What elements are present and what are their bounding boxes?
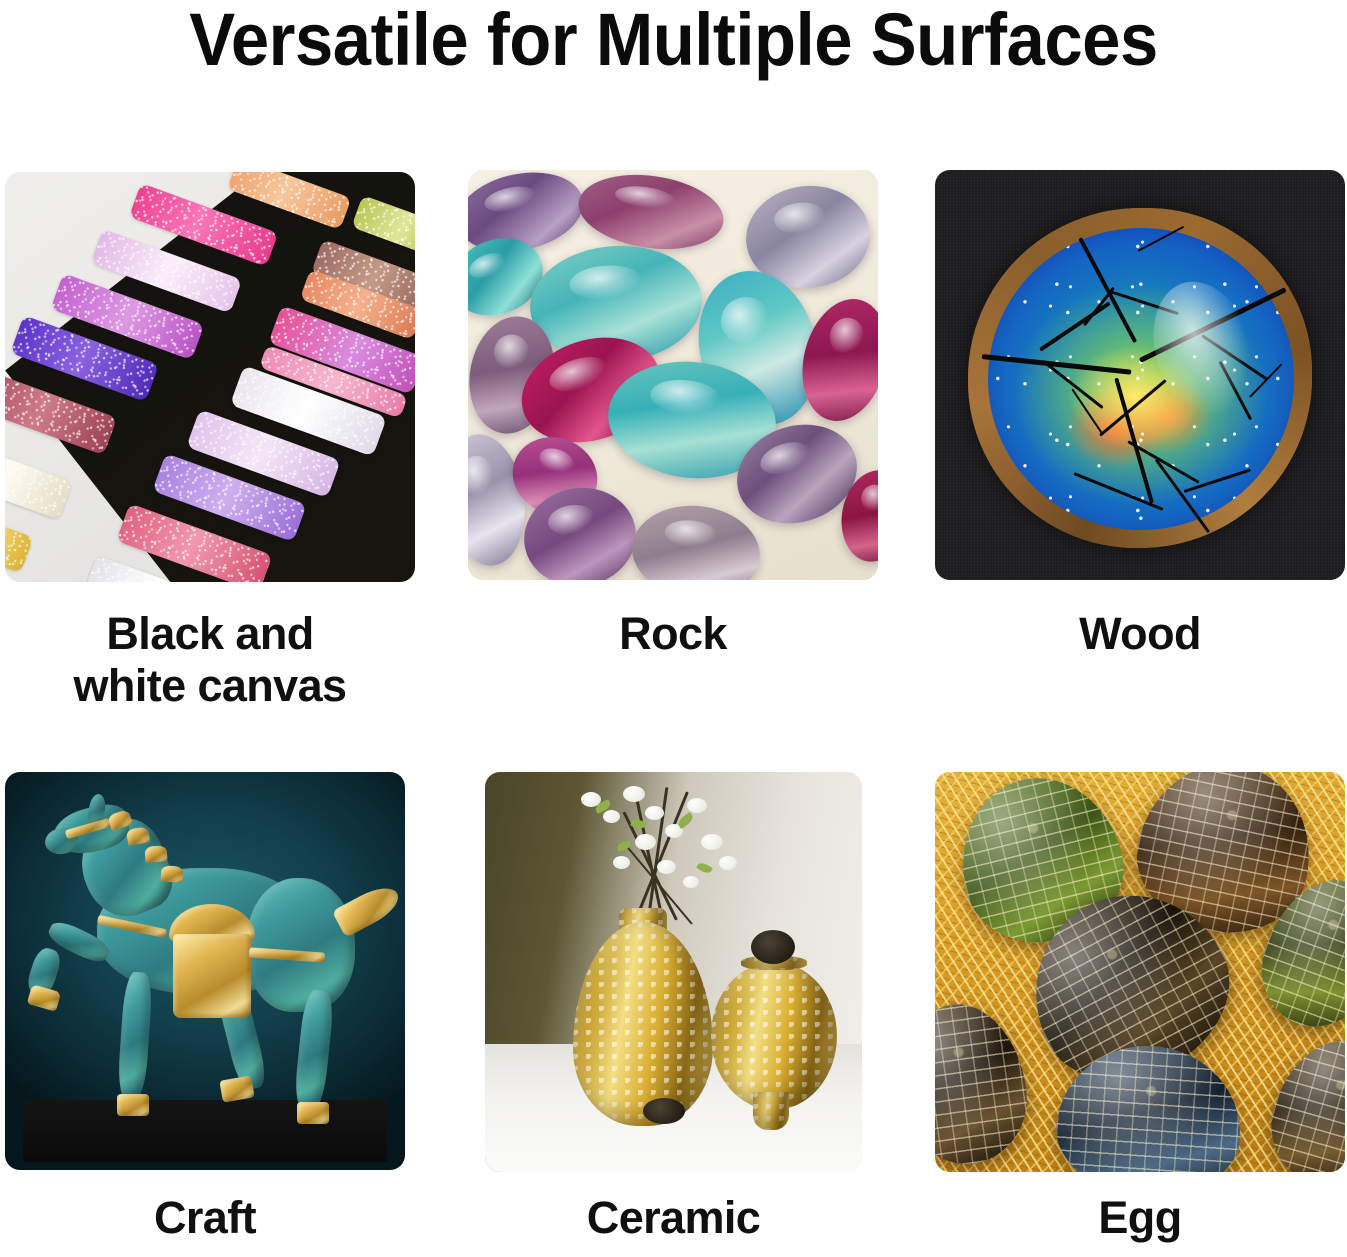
blossom-flower-3 [623,786,645,802]
surface-caption-craft: Craft [5,1192,405,1244]
wood-slice [968,208,1312,548]
horse-hindquarter [247,878,355,1012]
surface-caption-ceramic: Ceramic [485,1192,862,1244]
horse-hoof-hind-far [297,1102,329,1124]
surface-caption-black-and-white-canvas: Black and white canvas [5,608,415,712]
pinecone-on-table [643,1098,685,1124]
blossom-flower-7 [687,798,707,813]
surface-image-wood [935,170,1345,580]
surface-caption-wood: Wood [935,608,1345,660]
horse-saddle-blanket [173,934,251,1018]
surface-image-ceramic [485,772,862,1172]
gold-vase-round-foot [753,1092,789,1130]
blossom-flower-8 [701,834,723,850]
pinecone-on-vase [751,930,795,964]
blossom-flower-12 [683,876,699,888]
blossom-flower-10 [613,856,630,869]
blossom-flower-5 [635,834,656,850]
blossom-flower-4 [645,806,664,820]
horse-mane-ornament-3 [144,845,167,862]
gold-vase-round-body [711,962,837,1110]
horse-hoof-front-standing [117,1094,149,1116]
surface-caption-egg: Egg [935,1192,1345,1244]
surface-image-rock [468,170,878,580]
surface-image-egg [935,772,1345,1172]
statue-base [23,1100,387,1162]
horse-mane-ornament-4 [160,865,183,882]
surface-caption-rock: Rock [468,608,878,660]
blossom-flower-11 [719,856,737,870]
blossom-flower-2 [603,810,620,823]
blossom-flower-9 [657,860,676,874]
surface-image-black-and-white-canvas [5,172,415,582]
page-title: Versatile for Multiple Surfaces [47,0,1300,82]
surface-image-craft [5,772,405,1170]
wood-painted-sky [988,228,1294,530]
